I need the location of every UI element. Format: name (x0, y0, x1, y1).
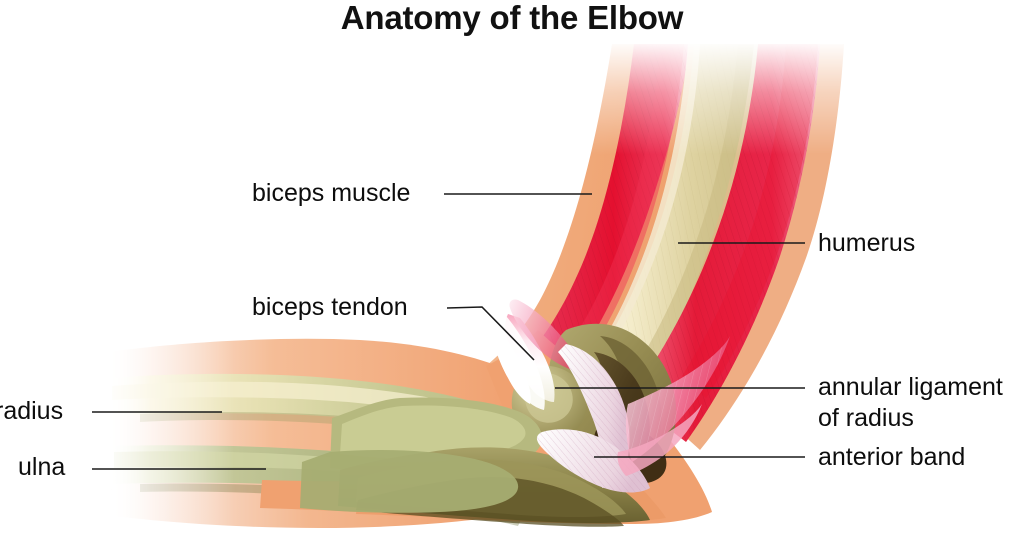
label-radius: radius (0, 396, 63, 427)
illustration-canvas: Anatomy of the Elbow (0, 0, 1024, 544)
label-biceps-muscle: biceps muscle (252, 178, 410, 209)
label-anterior-band: anterior band (818, 442, 965, 473)
label-biceps-tendon: biceps tendon (252, 292, 408, 323)
label-ulna: ulna (18, 452, 65, 483)
label-annular-ligament-line2: of radius (818, 403, 914, 434)
label-humerus: humerus (818, 228, 915, 259)
label-annular-ligament-line1: annular ligament (818, 372, 1003, 403)
